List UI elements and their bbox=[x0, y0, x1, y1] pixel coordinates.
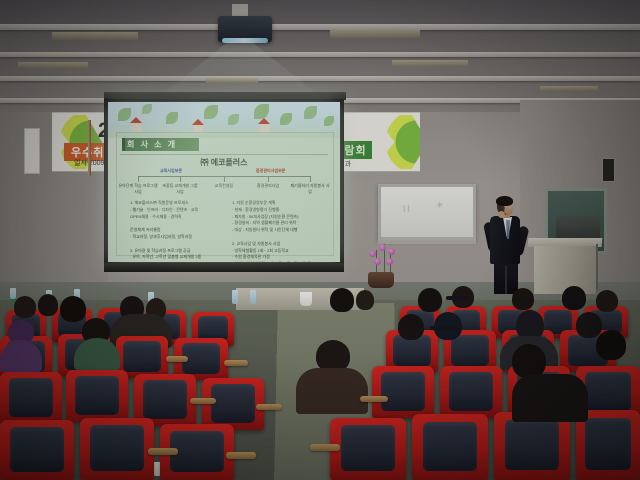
attendee-head bbox=[512, 344, 546, 378]
wall-pipe bbox=[88, 120, 91, 176]
presenter-hair bbox=[496, 196, 513, 206]
lectern bbox=[534, 246, 596, 294]
ceiling-light bbox=[18, 62, 88, 69]
orchid-flower bbox=[388, 248, 395, 255]
attendee-head bbox=[512, 288, 534, 310]
whiteboard bbox=[378, 184, 476, 240]
slide-branch-tag: 교육사업부문 bbox=[160, 168, 182, 174]
ceiling-light bbox=[392, 60, 468, 67]
orchid-flower bbox=[379, 244, 386, 251]
ceiling-light bbox=[540, 86, 598, 92]
ceiling-beam bbox=[0, 24, 640, 30]
seat bbox=[412, 414, 488, 480]
slide-column-right: 1. 자원 순환경영부문 계획 · 현재 : 환경영향평가 진행중 - 폐자원 … bbox=[232, 200, 332, 262]
armrest bbox=[166, 356, 188, 362]
wall-speaker bbox=[24, 128, 40, 174]
screen-bottom-bar bbox=[104, 263, 344, 272]
whiteboard-writing: ✳ bbox=[436, 200, 444, 211]
armrest bbox=[224, 360, 248, 366]
armrest bbox=[226, 452, 256, 459]
projection-screen: 회 사 소 개 ㈜ 에코플러스 교육사업부문 환경관리사업부문 유아단계 학습 … bbox=[108, 102, 340, 262]
banner-chevron-icon bbox=[374, 115, 420, 169]
ceiling-beam bbox=[0, 76, 640, 81]
ceiling-light bbox=[206, 78, 258, 84]
seat bbox=[66, 370, 128, 422]
org-connector bbox=[180, 176, 181, 182]
attendee-head bbox=[330, 288, 354, 312]
water-bottle bbox=[250, 290, 256, 304]
attendee-head bbox=[38, 294, 58, 316]
orchid-pot bbox=[368, 272, 394, 288]
attendee-body bbox=[296, 368, 368, 414]
house-icon bbox=[260, 123, 269, 132]
armrest bbox=[256, 404, 282, 410]
seat bbox=[330, 418, 406, 480]
org-connector bbox=[138, 176, 139, 182]
armrest bbox=[360, 396, 388, 402]
slide-column-left: 1. 에코플러스㈜ 직원운영 프로세스 - 웹기술 · 인프라 · 디자인 · … bbox=[130, 200, 226, 262]
armrest bbox=[310, 444, 340, 451]
mic-stand bbox=[596, 244, 598, 290]
wall-mounted-box bbox=[602, 158, 615, 182]
org-node: 환경관리사업 bbox=[248, 183, 288, 189]
org-node: 폐기물처리 자원봉사 사업 bbox=[290, 183, 330, 195]
org-connector bbox=[268, 176, 269, 182]
attendee-head bbox=[398, 314, 424, 340]
attendee-head bbox=[562, 286, 586, 310]
house-icon bbox=[132, 122, 141, 131]
seat bbox=[80, 418, 154, 480]
water-bottle bbox=[232, 290, 238, 304]
org-node: 유아단계 학습 프로그램 사업 bbox=[118, 183, 158, 195]
org-node: 초중등 교재개발 그룹 사업 bbox=[160, 183, 200, 195]
seat bbox=[0, 372, 62, 424]
seat bbox=[494, 412, 570, 480]
ceiling-light bbox=[330, 30, 420, 38]
orchid-flower bbox=[386, 258, 393, 265]
org-connector bbox=[310, 176, 311, 182]
attendee-body bbox=[512, 374, 588, 422]
whiteboard-writing: ⌇⌇ bbox=[402, 204, 411, 215]
ceiling-light bbox=[52, 32, 138, 40]
seat bbox=[372, 366, 434, 418]
org-connector bbox=[224, 176, 225, 182]
cap-brim-icon bbox=[446, 296, 468, 300]
auditorium-photo: 200 우수취업 일시 2009. 수회 개선 박람회 학교 취업공작과 회 사… bbox=[0, 0, 640, 480]
paper-cup bbox=[300, 292, 312, 306]
cap-brim-icon bbox=[430, 326, 458, 330]
attendee-head bbox=[356, 290, 374, 310]
orchid-flower bbox=[369, 250, 376, 257]
attendee-head bbox=[418, 288, 442, 312]
projector-lens-icon bbox=[222, 38, 268, 43]
armrest bbox=[190, 398, 216, 404]
org-node: 교육컨설팅 bbox=[204, 183, 244, 189]
seat bbox=[440, 366, 502, 418]
attendee-head bbox=[14, 296, 36, 318]
attendee-head bbox=[596, 330, 626, 360]
orchid-flower bbox=[374, 258, 381, 265]
ceiling-beam bbox=[0, 52, 640, 57]
seat bbox=[202, 378, 264, 430]
armrest bbox=[148, 448, 178, 455]
whiteboard-tray bbox=[378, 240, 476, 244]
attendee-head bbox=[60, 296, 86, 322]
presenter-leg-gap bbox=[505, 266, 507, 294]
presenter-hand bbox=[498, 211, 505, 218]
slide-branch-tag: 환경관리사업부문 bbox=[256, 168, 285, 174]
attendee-head bbox=[576, 312, 602, 338]
seat bbox=[0, 420, 74, 480]
attendee-head bbox=[596, 290, 618, 312]
